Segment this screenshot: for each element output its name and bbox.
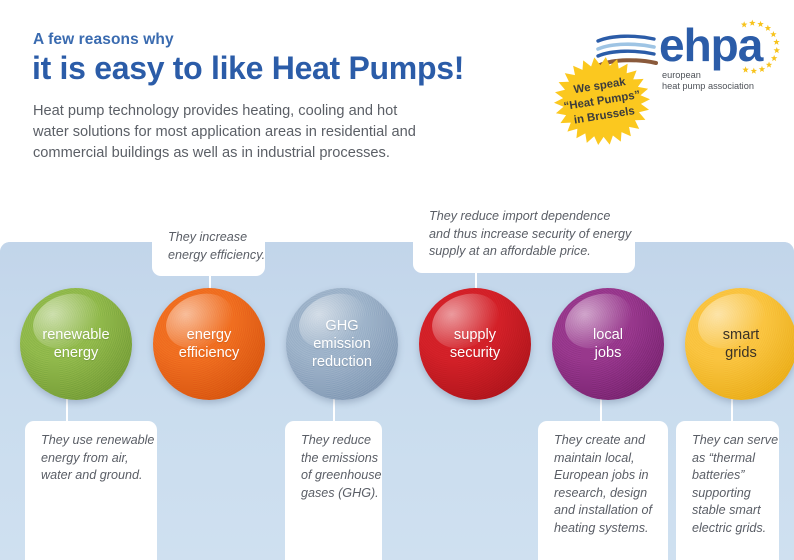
sphere-label-line-0: supply [450, 326, 500, 344]
header-section: A few reasons why it is easy to like Hea… [0, 0, 794, 242]
callout-bottom-1: They reducethe emissionsof greenhousegas… [285, 421, 382, 560]
sphere-label-line-2: reduction [312, 353, 372, 371]
callout-top-1: They reduce import dependenceand thus in… [413, 197, 635, 273]
callout-bottom-2: They create andmaintain local,European j… [538, 421, 668, 560]
callout-top-1-line-0: They reduce import dependence [429, 208, 621, 226]
callout-top-0-line-0: They increase [168, 229, 251, 247]
sphere-energy-efficiency[interactable]: energyefficiency [153, 288, 265, 400]
callout-bottom-2-line-0: They create and [554, 432, 654, 450]
page-title: it is easy to like Heat Pumps! [32, 50, 464, 87]
connector-bottom-2 [600, 396, 602, 422]
callout-bottom-3-line-2: batteries” [692, 467, 765, 485]
callout-top-1-line-2: supply at an affordable price. [429, 243, 621, 261]
sphere-label-line-1: jobs [593, 344, 623, 362]
connector-bottom-3 [731, 396, 733, 422]
sphere-label-line-1: security [450, 344, 500, 362]
callout-bottom-3-line-4: stable smart [692, 502, 765, 520]
sphere-label-line-0: local [593, 326, 623, 344]
callout-bottom-1-line-2: of greenhouse [301, 467, 368, 485]
sphere-label: renewableenergy [42, 326, 109, 363]
intro-line-0: Heat pump technology provides heating, c… [33, 101, 513, 122]
sphere-label: GHGemissionreduction [312, 317, 372, 372]
callout-bottom-0-line-0: They use renewable [41, 432, 143, 450]
sphere-label-line-1: efficiency [179, 344, 240, 362]
sphere-ghg-emission-reduction[interactable]: GHGemissionreduction [286, 288, 398, 400]
callout-bottom-3-line-1: as “thermal [692, 450, 765, 468]
callout-top-0-line-1: energy efficiency. [168, 247, 251, 265]
callout-bottom-3-line-0: They can serve [692, 432, 765, 450]
callout-bottom-0-line-1: energy from air, [41, 450, 143, 468]
sphere-label: localjobs [593, 326, 623, 363]
callout-top-0: They increaseenergy efficiency. [152, 218, 265, 276]
callout-bottom-3-line-3: supporting [692, 485, 765, 503]
sphere-label-line-1: grids [723, 344, 759, 362]
badge-text: We speak“Heat Pumps”in Brussels [541, 44, 663, 158]
callout-bottom-2-line-3: research, design [554, 485, 654, 503]
sphere-label-line-1: energy [42, 344, 109, 362]
eu-stars-icon [724, 18, 782, 76]
callout-bottom-1-line-3: gases (GHG). [301, 485, 368, 503]
sphere-label: smartgrids [723, 326, 759, 363]
sphere-supply-security[interactable]: supplysecurity [419, 288, 531, 400]
sphere-smart-grids[interactable]: smartgrids [685, 288, 794, 400]
callout-bottom-0: They use renewableenergy from air,water … [25, 421, 157, 560]
callout-top-1-line-1: and thus increase security of energy [429, 226, 621, 244]
connector-bottom-0 [66, 396, 68, 422]
logo-subtitle-line-1: heat pump association [662, 81, 754, 92]
intro-line-1: water solutions for most application are… [33, 122, 513, 143]
callout-bottom-1-line-0: They reduce [301, 432, 368, 450]
callout-bottom-2-line-5: heating systems. [554, 520, 654, 538]
sphere-label: energyefficiency [179, 326, 240, 363]
sphere-renewable-energy[interactable]: renewableenergy [20, 288, 132, 400]
connector-bottom-1 [333, 396, 335, 422]
sphere-label-line-1: emission [312, 335, 372, 353]
callout-bottom-2-line-2: European jobs in [554, 467, 654, 485]
callout-bottom-2-line-1: maintain local, [554, 450, 654, 468]
sphere-label-line-0: renewable [42, 326, 109, 344]
callout-bottom-0-line-2: water and ground. [41, 467, 143, 485]
sphere-label-line-0: energy [179, 326, 240, 344]
infographic-page: A few reasons why it is easy to like Hea… [0, 0, 794, 560]
sphere-label-line-0: smart [723, 326, 759, 344]
kicker-text: A few reasons why [33, 31, 174, 49]
we-speak-heat-pumps-badge: We speak“Heat Pumps”in Brussels [548, 52, 656, 150]
sphere-label-line-0: GHG [312, 317, 372, 335]
callout-bottom-3-line-5: electric grids. [692, 520, 765, 538]
intro-paragraph: Heat pump technology provides heating, c… [33, 101, 513, 164]
sphere-local-jobs[interactable]: localjobs [552, 288, 664, 400]
callout-bottom-3: They can serveas “thermalbatteries”suppo… [676, 421, 779, 560]
callout-bottom-1-line-1: the emissions [301, 450, 368, 468]
sphere-label: supplysecurity [450, 326, 500, 363]
intro-line-2: commercial buildings as well as in indus… [33, 143, 513, 164]
callout-bottom-2-line-4: and installation of [554, 502, 654, 520]
